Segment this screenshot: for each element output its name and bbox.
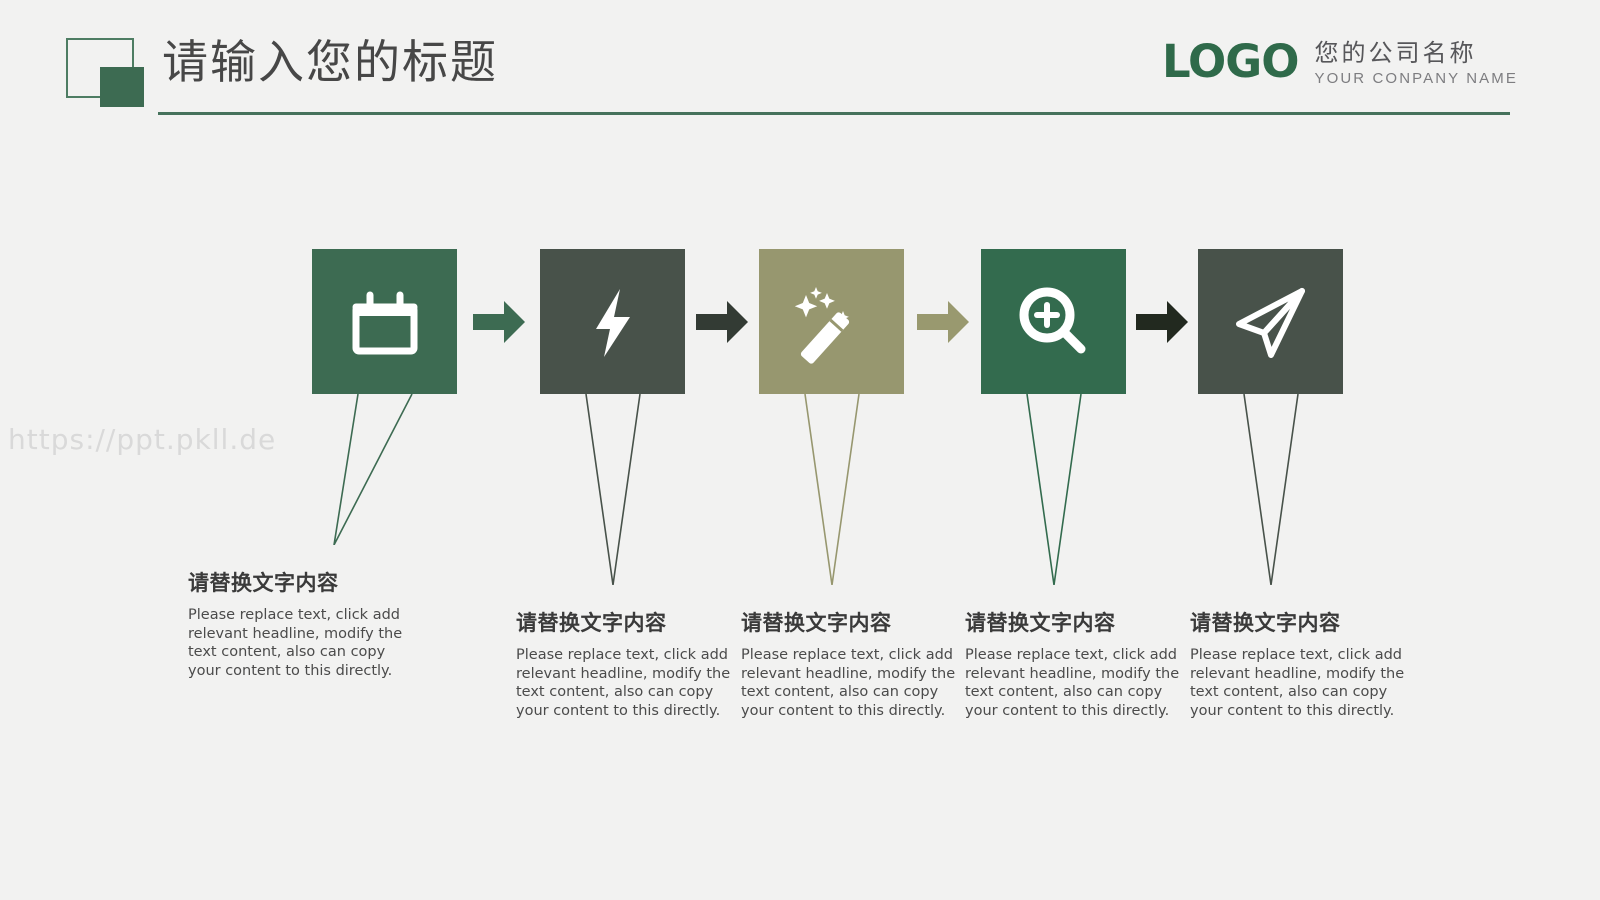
flow-step-box-4[interactable] — [981, 249, 1126, 394]
flow-step-box-5[interactable] — [1198, 249, 1343, 394]
flow-caption-4: 请替换文字内容Please replace text, click add re… — [965, 610, 1183, 720]
flow-caption-body-2: Please replace text, click add relevant … — [516, 646, 734, 720]
flow-caption-body-1: Please replace text, click add relevant … — [188, 606, 406, 680]
flow-pointer-3 — [777, 394, 887, 590]
flow-caption-body-4: Please replace text, click add relevant … — [965, 646, 1183, 720]
flow-caption-heading-4: 请替换文字内容 — [965, 610, 1183, 637]
flow-caption-body-3: Please replace text, click add relevant … — [741, 646, 959, 720]
flow-step-box-1[interactable] — [312, 249, 457, 394]
flow-step-box-3[interactable] — [759, 249, 904, 394]
flow-arrow-3 — [915, 294, 971, 350]
process-flow-diagram: 请替换文字内容Please replace text, click add re… — [0, 0, 1600, 900]
flow-pointer-5 — [1216, 394, 1326, 590]
flow-pointer-1 — [330, 394, 440, 550]
flow-caption-2: 请替换文字内容Please replace text, click add re… — [516, 610, 734, 720]
flow-arrow-2 — [694, 294, 750, 350]
flow-caption-5: 请替换文字内容Please replace text, click add re… — [1190, 610, 1408, 720]
flow-pointer-2 — [558, 394, 668, 590]
flow-step-box-2[interactable] — [540, 249, 685, 394]
flow-caption-heading-5: 请替换文字内容 — [1190, 610, 1408, 637]
flow-arrow-1 — [471, 294, 527, 350]
flow-caption-3: 请替换文字内容Please replace text, click add re… — [741, 610, 959, 720]
flow-caption-heading-1: 请替换文字内容 — [188, 570, 406, 597]
flow-pointer-4 — [999, 394, 1109, 590]
flow-caption-1: 请替换文字内容Please replace text, click add re… — [188, 570, 406, 680]
flow-caption-body-5: Please replace text, click add relevant … — [1190, 646, 1408, 720]
flow-arrow-4 — [1134, 294, 1190, 350]
flow-caption-heading-2: 请替换文字内容 — [516, 610, 734, 637]
flow-caption-heading-3: 请替换文字内容 — [741, 610, 959, 637]
